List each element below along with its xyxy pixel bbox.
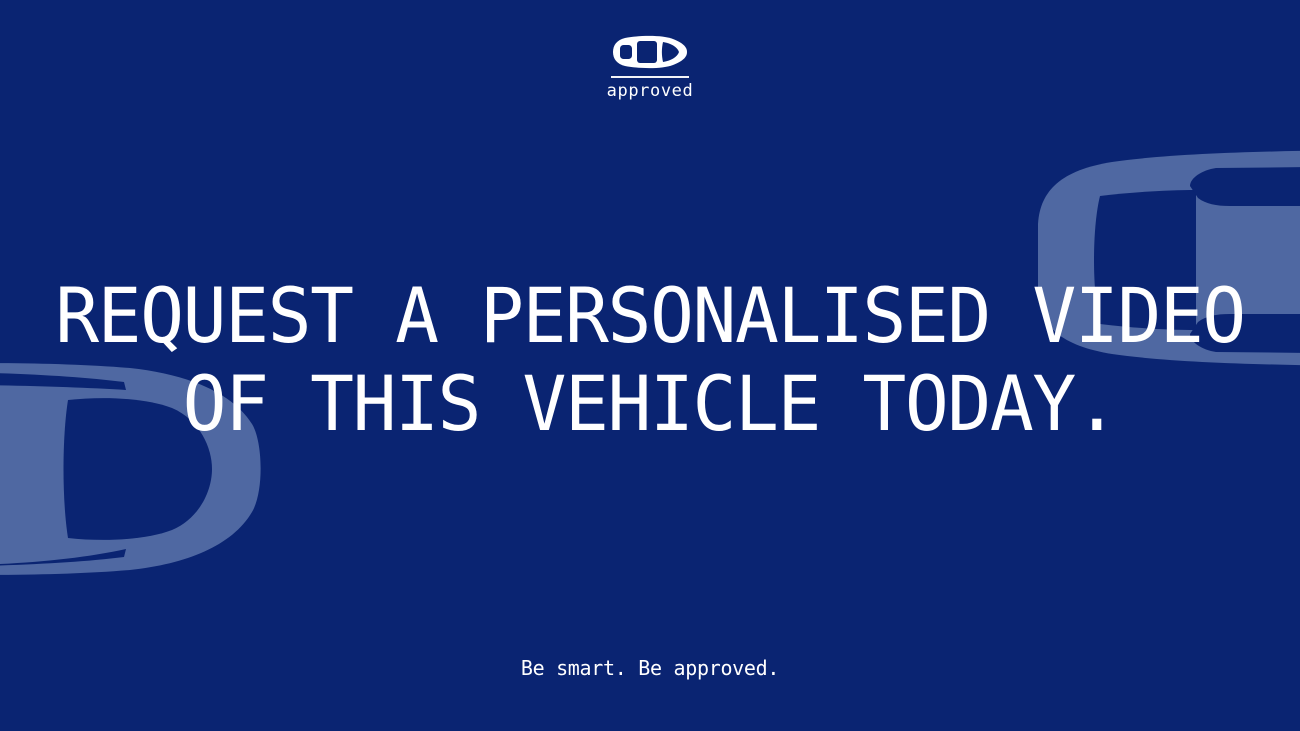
car-top-view-icon (611, 34, 689, 70)
brand-wordmark: approved (607, 83, 694, 100)
tagline: Be smart. Be approved. (0, 655, 1300, 681)
promo-banner: approved REQUEST A PERSONALISED VIDEO OF… (0, 0, 1300, 731)
brand-lockup: approved (0, 34, 1300, 100)
headline-line-1: REQUEST A PERSONALISED VIDEO (26, 272, 1274, 360)
headline-line-2: OF THIS VEHICLE TODAY. (26, 360, 1274, 448)
brand-divider-rule (611, 76, 689, 78)
headline: REQUEST A PERSONALISED VIDEO OF THIS VEH… (0, 272, 1300, 448)
